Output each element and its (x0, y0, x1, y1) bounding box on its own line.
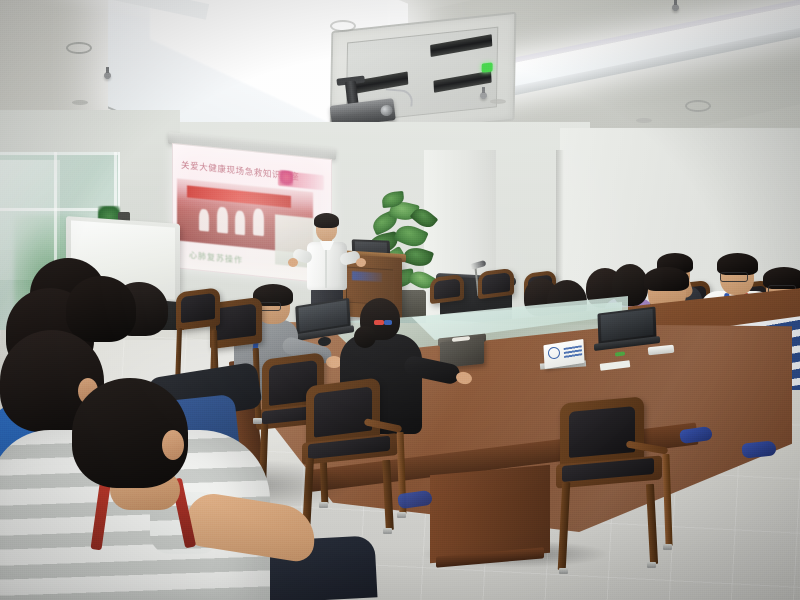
tent-card-text (564, 345, 583, 359)
chair-foot-cap (253, 418, 262, 424)
hair-tie (374, 320, 384, 325)
fire-sprinkler-head (104, 72, 111, 79)
chair-foot-cap (397, 512, 406, 518)
chair-foot-cap (383, 528, 392, 534)
conference-room-photo: 关爱大健康现场急救知识讲座 心肺复苏操作 (0, 0, 800, 600)
attendee-head (66, 276, 136, 342)
fire-sprinkler-head (672, 4, 679, 11)
ceiling-speaker-icon (330, 20, 356, 32)
slide-figure (217, 206, 228, 233)
ceiling-vent-slot (636, 118, 652, 123)
chair-foot-cap (663, 544, 672, 550)
chair-foot-cap (559, 568, 568, 574)
chair-back-cushion (434, 278, 460, 299)
ceiling-speaker-icon (66, 42, 92, 54)
ceiling-vent-slot (490, 99, 506, 104)
presenter-left-hand (288, 258, 298, 267)
presenter-shirt-placket (325, 246, 327, 288)
slide-figure (235, 210, 245, 235)
presenter-right-hand (356, 258, 366, 267)
glass-mullion (0, 152, 118, 155)
plant-leaf (402, 244, 434, 270)
chair-back-cushion (181, 293, 215, 323)
attendee-hair-bun (354, 326, 376, 348)
chair-back-cushion (482, 272, 510, 294)
attendee-hair (644, 267, 689, 291)
ceiling-vent-slot (72, 100, 88, 105)
slide-logo-mark-icon (280, 170, 293, 186)
ceiling-speaker-icon (685, 100, 711, 112)
presenter-hair (314, 213, 339, 228)
chair-back-cushion (569, 406, 635, 458)
chair-back-cushion (314, 386, 372, 437)
chair-foot-cap (647, 562, 656, 568)
fire-sprinkler-head (480, 92, 487, 99)
chair-back-cushion (216, 304, 256, 341)
ac-status-led-icon (482, 62, 493, 72)
slide-figure (199, 209, 209, 232)
ceiling-mounted-projector (328, 88, 395, 126)
hair-tie (384, 320, 392, 325)
attendee-ear (162, 430, 184, 460)
slide-figure (253, 208, 264, 236)
